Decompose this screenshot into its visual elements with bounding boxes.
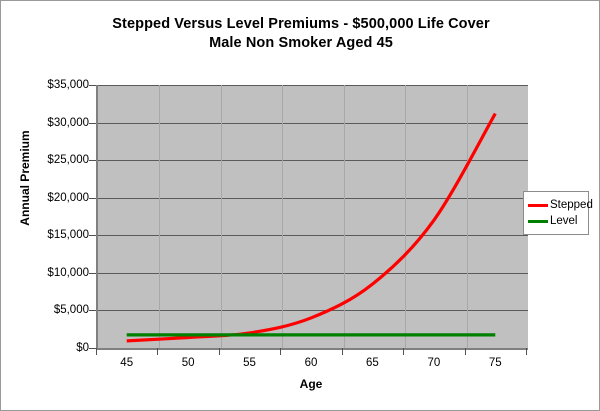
y-axis-tick-mark	[89, 123, 96, 124]
y-axis-tick-mark	[89, 348, 96, 349]
gridline-vertical	[405, 85, 406, 348]
legend-swatch-icon	[528, 220, 548, 223]
legend-item-stepped[interactable]: Stepped	[528, 197, 584, 213]
x-axis-tick-mark	[157, 348, 158, 355]
legend-item-label: Stepped	[550, 199, 593, 211]
gridline-horizontal	[98, 160, 528, 161]
x-axis-tick-mark	[280, 348, 281, 355]
x-axis-tick-label: 70	[414, 357, 454, 369]
x-axis-tick-mark	[403, 348, 404, 355]
x-axis-tick-mark	[526, 348, 527, 355]
gridline-horizontal	[98, 85, 528, 86]
x-axis-title: Age	[96, 377, 526, 391]
y-axis-tick-label: $5,000	[17, 304, 89, 316]
x-axis-tick-mark	[96, 348, 97, 355]
gridline-horizontal	[98, 198, 528, 199]
x-axis-tick-mark	[219, 348, 220, 355]
x-axis-tick-label: 50	[168, 357, 208, 369]
x-axis-tick-mark	[465, 348, 466, 355]
chart-container: Stepped Versus Level Premiums - $500,000…	[0, 0, 600, 411]
gridline-horizontal	[98, 310, 528, 311]
y-axis-tick-label: $10,000	[17, 267, 89, 279]
y-axis-tick-mark	[89, 198, 96, 199]
legend-item-level[interactable]: Level	[528, 213, 584, 229]
gridline-vertical	[159, 85, 160, 348]
gridline-vertical	[467, 85, 468, 348]
x-axis-tick-label: 55	[230, 357, 270, 369]
plot-area	[96, 85, 528, 348]
y-axis-tick-mark	[89, 160, 96, 161]
chart-legend: SteppedLevel	[523, 191, 589, 235]
gridline-horizontal	[98, 273, 528, 274]
legend-item-label: Level	[550, 215, 578, 227]
x-axis-tick-mark	[342, 348, 343, 355]
y-axis-title: Annual Premium	[18, 108, 32, 248]
x-axis-tick-label: 45	[107, 357, 147, 369]
gridline-vertical	[221, 85, 222, 348]
y-axis-tick-label: $0	[17, 342, 89, 354]
y-axis-tick-mark	[89, 235, 96, 236]
y-axis-tick-mark	[89, 310, 96, 311]
x-axis-line	[96, 348, 528, 350]
gridline-vertical	[344, 85, 345, 348]
gridline-vertical	[282, 85, 283, 348]
x-axis-tick-label: 75	[475, 357, 515, 369]
gridline-horizontal	[98, 235, 528, 236]
gridline-horizontal	[98, 123, 528, 124]
x-axis-tick-label: 65	[352, 357, 392, 369]
legend-swatch-icon	[528, 204, 548, 207]
y-axis-tick-mark	[89, 85, 96, 86]
chart-title: Stepped Versus Level Premiums - $500,000…	[1, 15, 600, 53]
x-axis-tick-label: 60	[291, 357, 331, 369]
y-axis-tick-mark	[89, 273, 96, 274]
chart-title-line-1: Stepped Versus Level Premiums - $500,000…	[1, 15, 600, 34]
y-axis-tick-label: $35,000	[17, 79, 89, 91]
chart-title-line-2: Male Non Smoker Aged 45	[1, 34, 600, 53]
